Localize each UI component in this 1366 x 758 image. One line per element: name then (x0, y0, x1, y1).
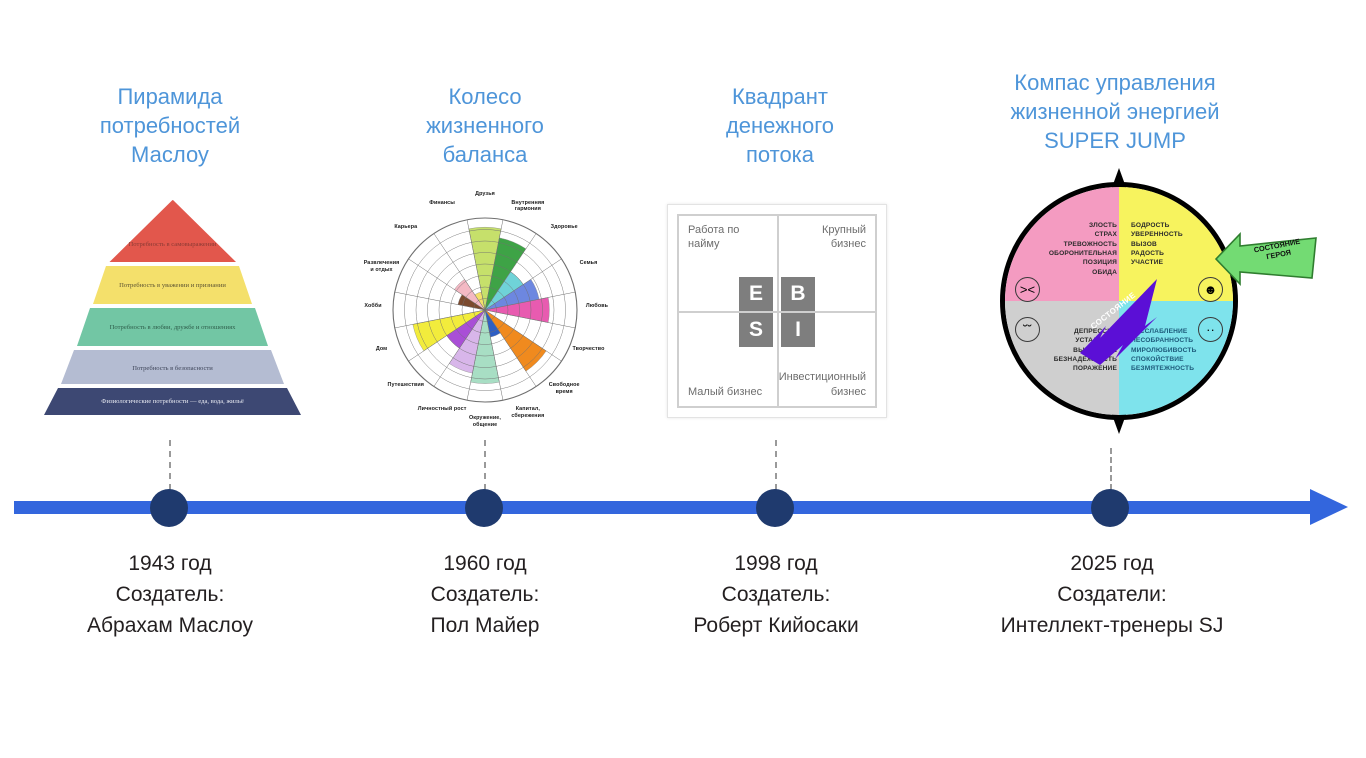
connector-stem-3 (775, 440, 777, 490)
quadrant-caption-i: Инвестиционный бизнес (779, 370, 866, 399)
milestone-caption-4: 2025 год Создатели: Интеллект-тренеры SJ (960, 548, 1264, 641)
wheel-sector-label: Личностный рост (412, 406, 472, 413)
timeline-dot-2025[interactable] (1091, 489, 1129, 527)
timeline-axis (14, 501, 1326, 514)
cashflow-quadrant: Работа по найму Крупный бизнес Малый биз… (667, 204, 887, 418)
quadrant-caption-e: Работа по найму (688, 223, 739, 252)
milestone-caption-1: 1943 год Создатель: Абрахам Маслоу (35, 548, 305, 641)
milestone-title-2: Колесо жизненного баланса (355, 82, 615, 169)
connector-stem-1 (169, 440, 171, 490)
wheel-sector-label: Финансы (412, 200, 472, 207)
wheel-sector-label: Любовь (567, 303, 627, 310)
milestone-caption-3: 1998 год Создатель: Роберт Кийосаки (641, 548, 911, 641)
wheel-sector-label: Свободное время (534, 382, 594, 395)
connector-stem-4 (1110, 448, 1112, 490)
wheel-sector-label: Внутренняя гармония (498, 200, 558, 213)
timeline-dot-1943[interactable] (150, 489, 188, 527)
quadrant-caption-b: Крупный бизнес (822, 223, 866, 252)
quadrant-letter-e: E (739, 277, 773, 311)
timeline-arrowhead (1310, 489, 1348, 525)
milestone-title-4: Компас управления жизненной энергией SUP… (955, 68, 1275, 155)
quadrant-horizontal-divider (677, 311, 877, 313)
pyramid-shape (40, 200, 305, 415)
timeline-dot-1960[interactable] (465, 489, 503, 527)
milestone-title-3: Квадрант денежного потока (650, 82, 910, 169)
compass-dial: ЗЛОСТЬ СТРАХ ТРЕВОЖНОСТЬ ОБОРОНИТЕЛЬНАЯ … (1000, 182, 1238, 420)
wheel-sector-label: Дом (352, 346, 412, 353)
life-balance-wheel: ДрузьяВнутренняя гармонияЗдоровьеСемьяЛю… (355, 192, 615, 424)
wheel-sector-label: Творчество (558, 346, 618, 353)
wheel-sector-label: Здоровье (534, 224, 594, 231)
connector-stem-2 (484, 440, 486, 490)
quadrant-letter-s: S (739, 313, 773, 347)
hero-state-callout: СОСТОЯНИЕ ГЕРОЯ (1212, 226, 1320, 288)
wheel-sector-label: Окружение, общение (455, 415, 515, 428)
quadrant-caption-s: Малый бизнес (688, 385, 762, 399)
wheel-sector-label: Путешествия (376, 382, 436, 389)
timeline-dot-1998[interactable] (756, 489, 794, 527)
quadrant-letter-b: B (781, 277, 815, 311)
milestone-title-1: Пирамида потребностей Маслоу (40, 82, 300, 169)
wheel-sector-label: Развлечения и отдых (352, 260, 412, 273)
quadrant-letter-i: I (781, 313, 815, 347)
timeline-infographic: Пирамида потребностей Маслоу Колесо жизн… (0, 0, 1366, 758)
milestone-caption-2: 1960 год Создатель: Пол Майер (350, 548, 620, 641)
wheel-sector-label: Хобби (343, 303, 403, 310)
wheel-sector-label: Друзья (455, 191, 515, 198)
wheel-sector-label: Семья (558, 260, 618, 267)
wheel-sector-label: Карьера (376, 224, 436, 231)
maslow-pyramid: Потребность в самовыражении Потребность … (40, 200, 305, 415)
energy-compass: ЗЛОСТЬ СТРАХ ТРЕВОЖНОСТЬ ОБОРОНИТЕЛЬНАЯ … (1000, 168, 1238, 434)
